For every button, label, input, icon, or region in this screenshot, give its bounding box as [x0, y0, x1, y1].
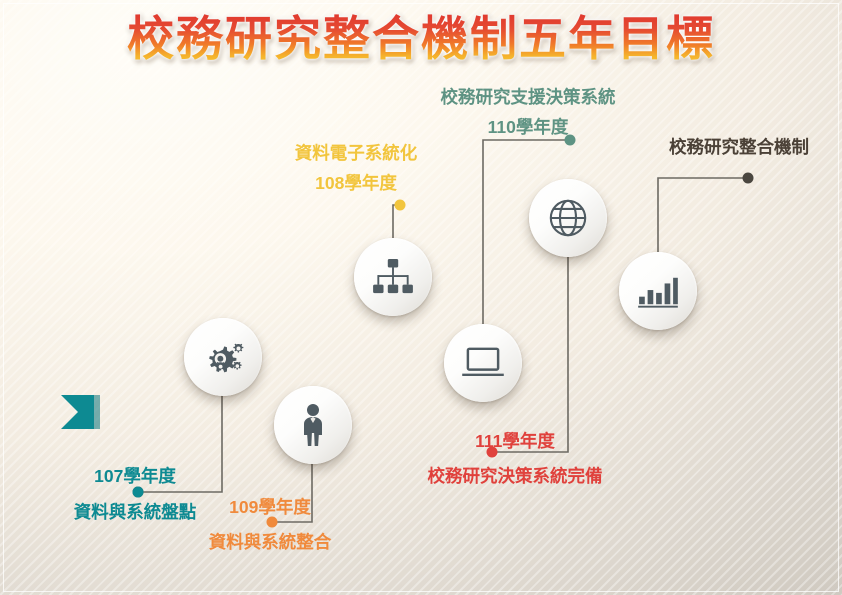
callout-m3: 資料電子系統化 108學年度: [258, 142, 454, 195]
milestone-node-m4[interactable]: [444, 324, 522, 402]
callout-m3-year: 108學年度: [258, 172, 454, 194]
callout-m5: 111學年度 校務研究決策系統完備: [390, 430, 640, 488]
laptop-icon: [460, 346, 506, 380]
gears-icon: [202, 336, 244, 378]
bar-chart-icon: [637, 274, 679, 308]
callout-m1-year: 107學年度: [20, 465, 250, 487]
org-chart-icon: [372, 259, 414, 295]
milestone-node-m2[interactable]: [274, 386, 352, 464]
milestone-node-m3[interactable]: [354, 238, 432, 316]
callout-m4: 校務研究支援決策系統 110學年度: [420, 86, 636, 139]
callout-m6-name: 校務研究整合機制: [646, 136, 832, 158]
callout-m2-name: 資料與系統整合: [170, 531, 370, 553]
milestone-node-m1[interactable]: [184, 318, 262, 396]
callout-m4-name: 校務研究支援決策系統: [420, 86, 636, 108]
callout-m2-year: 109學年度: [170, 496, 370, 518]
milestone-node-m6[interactable]: [619, 252, 697, 330]
callout-m2: 109學年度 資料與系統整合: [170, 496, 370, 554]
leader-dot-m6: [743, 173, 754, 184]
globe-icon: [547, 197, 589, 239]
milestone-node-m5[interactable]: [529, 179, 607, 257]
callout-m6: 校務研究整合機制: [646, 136, 832, 158]
person-icon: [294, 403, 332, 447]
callout-m5-year: 111學年度: [390, 430, 640, 452]
callout-m5-name: 校務研究決策系統完備: [390, 465, 640, 487]
callout-m3-name: 資料電子系統化: [258, 142, 454, 164]
callout-m4-year: 110學年度: [420, 116, 636, 138]
leader-dot-m3: [395, 200, 406, 211]
infographic-canvas: 校務研究整合機制五年目標 校務研究整合機制五年目標: [0, 0, 842, 595]
